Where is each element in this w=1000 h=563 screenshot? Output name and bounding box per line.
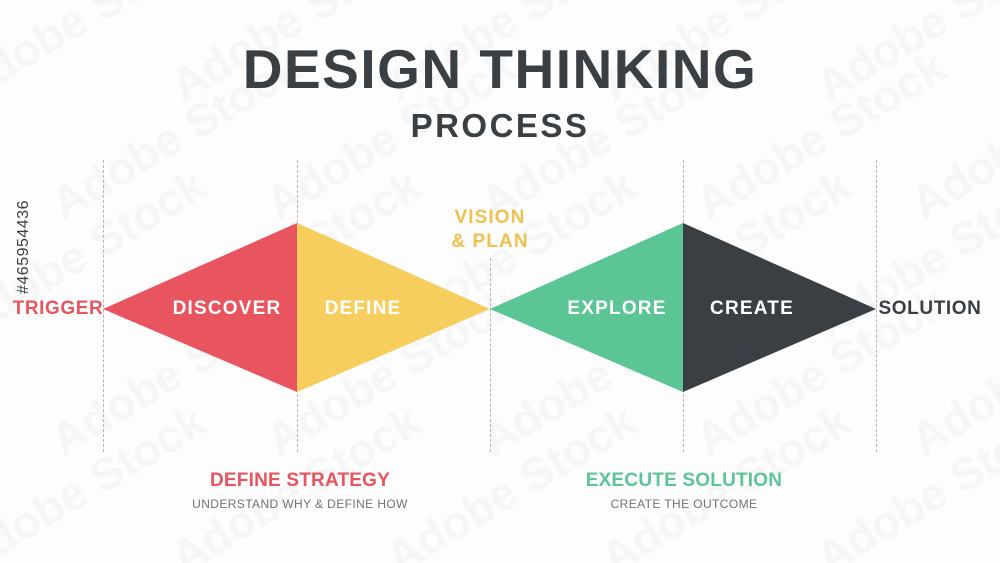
caption-title-define-strategy: DEFINE STRATEGY <box>192 470 408 492</box>
caption-define-strategy: DEFINE STRATEGY UNDERSTAND WHY & DEFINE … <box>192 470 408 511</box>
caption-subtitle-execute-solution: CREATE THE OUTCOME <box>586 497 782 511</box>
caption-execute-solution: EXECUTE SOLUTION CREATE THE OUTCOME <box>586 470 782 511</box>
center-label-vision-plan: VISION & PLAN <box>451 206 528 255</box>
infographic-canvas: Adobe StockAdobe StockAdobe StockAdobe S… <box>0 0 1000 563</box>
vision-plan-line-1: VISION <box>451 206 528 230</box>
endpoint-label-solution: SOLUTION <box>879 298 982 320</box>
shape-label-discover: DISCOVER <box>173 298 282 320</box>
process-shapes <box>0 0 1000 563</box>
caption-subtitle-define-strategy: UNDERSTAND WHY & DEFINE HOW <box>192 497 408 511</box>
shape-label-create: CREATE <box>710 298 794 320</box>
shape-label-explore: EXPLORE <box>567 298 666 320</box>
caption-title-execute-solution: EXECUTE SOLUTION <box>586 470 782 492</box>
shape-label-define: DEFINE <box>325 298 402 320</box>
vision-plan-line-2: & PLAN <box>451 230 528 254</box>
endpoint-label-trigger: TRIGGER <box>13 298 104 320</box>
